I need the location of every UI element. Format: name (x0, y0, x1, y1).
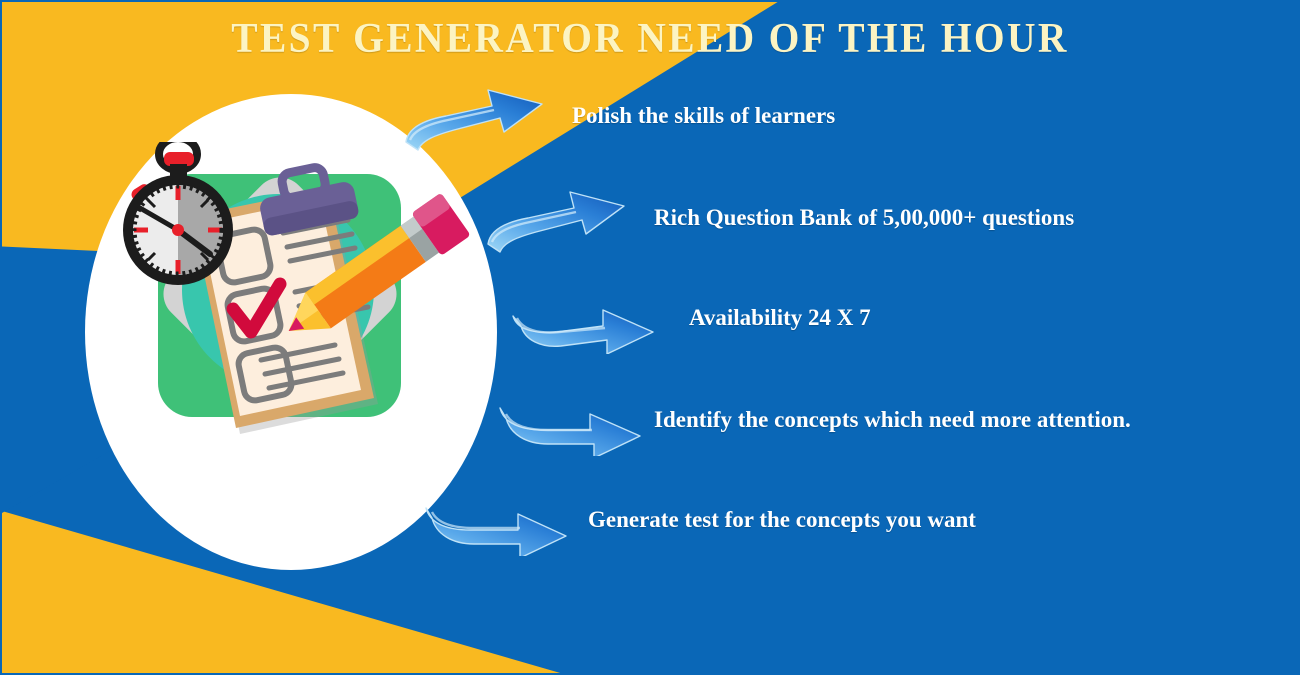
bullet-label: Identify the concepts which need more at… (654, 407, 1131, 433)
test-checklist-illustration (120, 142, 470, 482)
bullet-label: Generate test for the concepts you want (588, 507, 976, 533)
black-stopwatch-icon (123, 142, 233, 285)
bullet-row-polish: Polish the skills of learners (400, 80, 835, 152)
bullet-row-availability: Availability 24 X 7 (507, 282, 871, 354)
bullet-label: Polish the skills of learners (572, 103, 835, 129)
infographic-canvas: TEST GENERATOR NEED OF THE HOUR (0, 0, 1300, 675)
bullet-label: Availability 24 X 7 (689, 305, 871, 331)
bullet-row-question-bank: Rich Question Bank of 5,00,000+ question… (482, 182, 1074, 254)
page-title: TEST GENERATOR NEED OF THE HOUR (41, 18, 1259, 60)
curved-arrow-right-icon (494, 384, 644, 456)
curved-arrow-right-icon (482, 182, 632, 254)
curved-arrow-right-icon (420, 484, 570, 556)
bullet-row-generate: Generate test for the concepts you want (420, 484, 976, 556)
bullet-row-identify: Identify the concepts which need more at… (494, 384, 1131, 456)
curved-arrow-right-icon (507, 282, 657, 354)
bullet-label: Rich Question Bank of 5,00,000+ question… (654, 205, 1074, 231)
curved-arrow-right-icon (400, 80, 550, 152)
